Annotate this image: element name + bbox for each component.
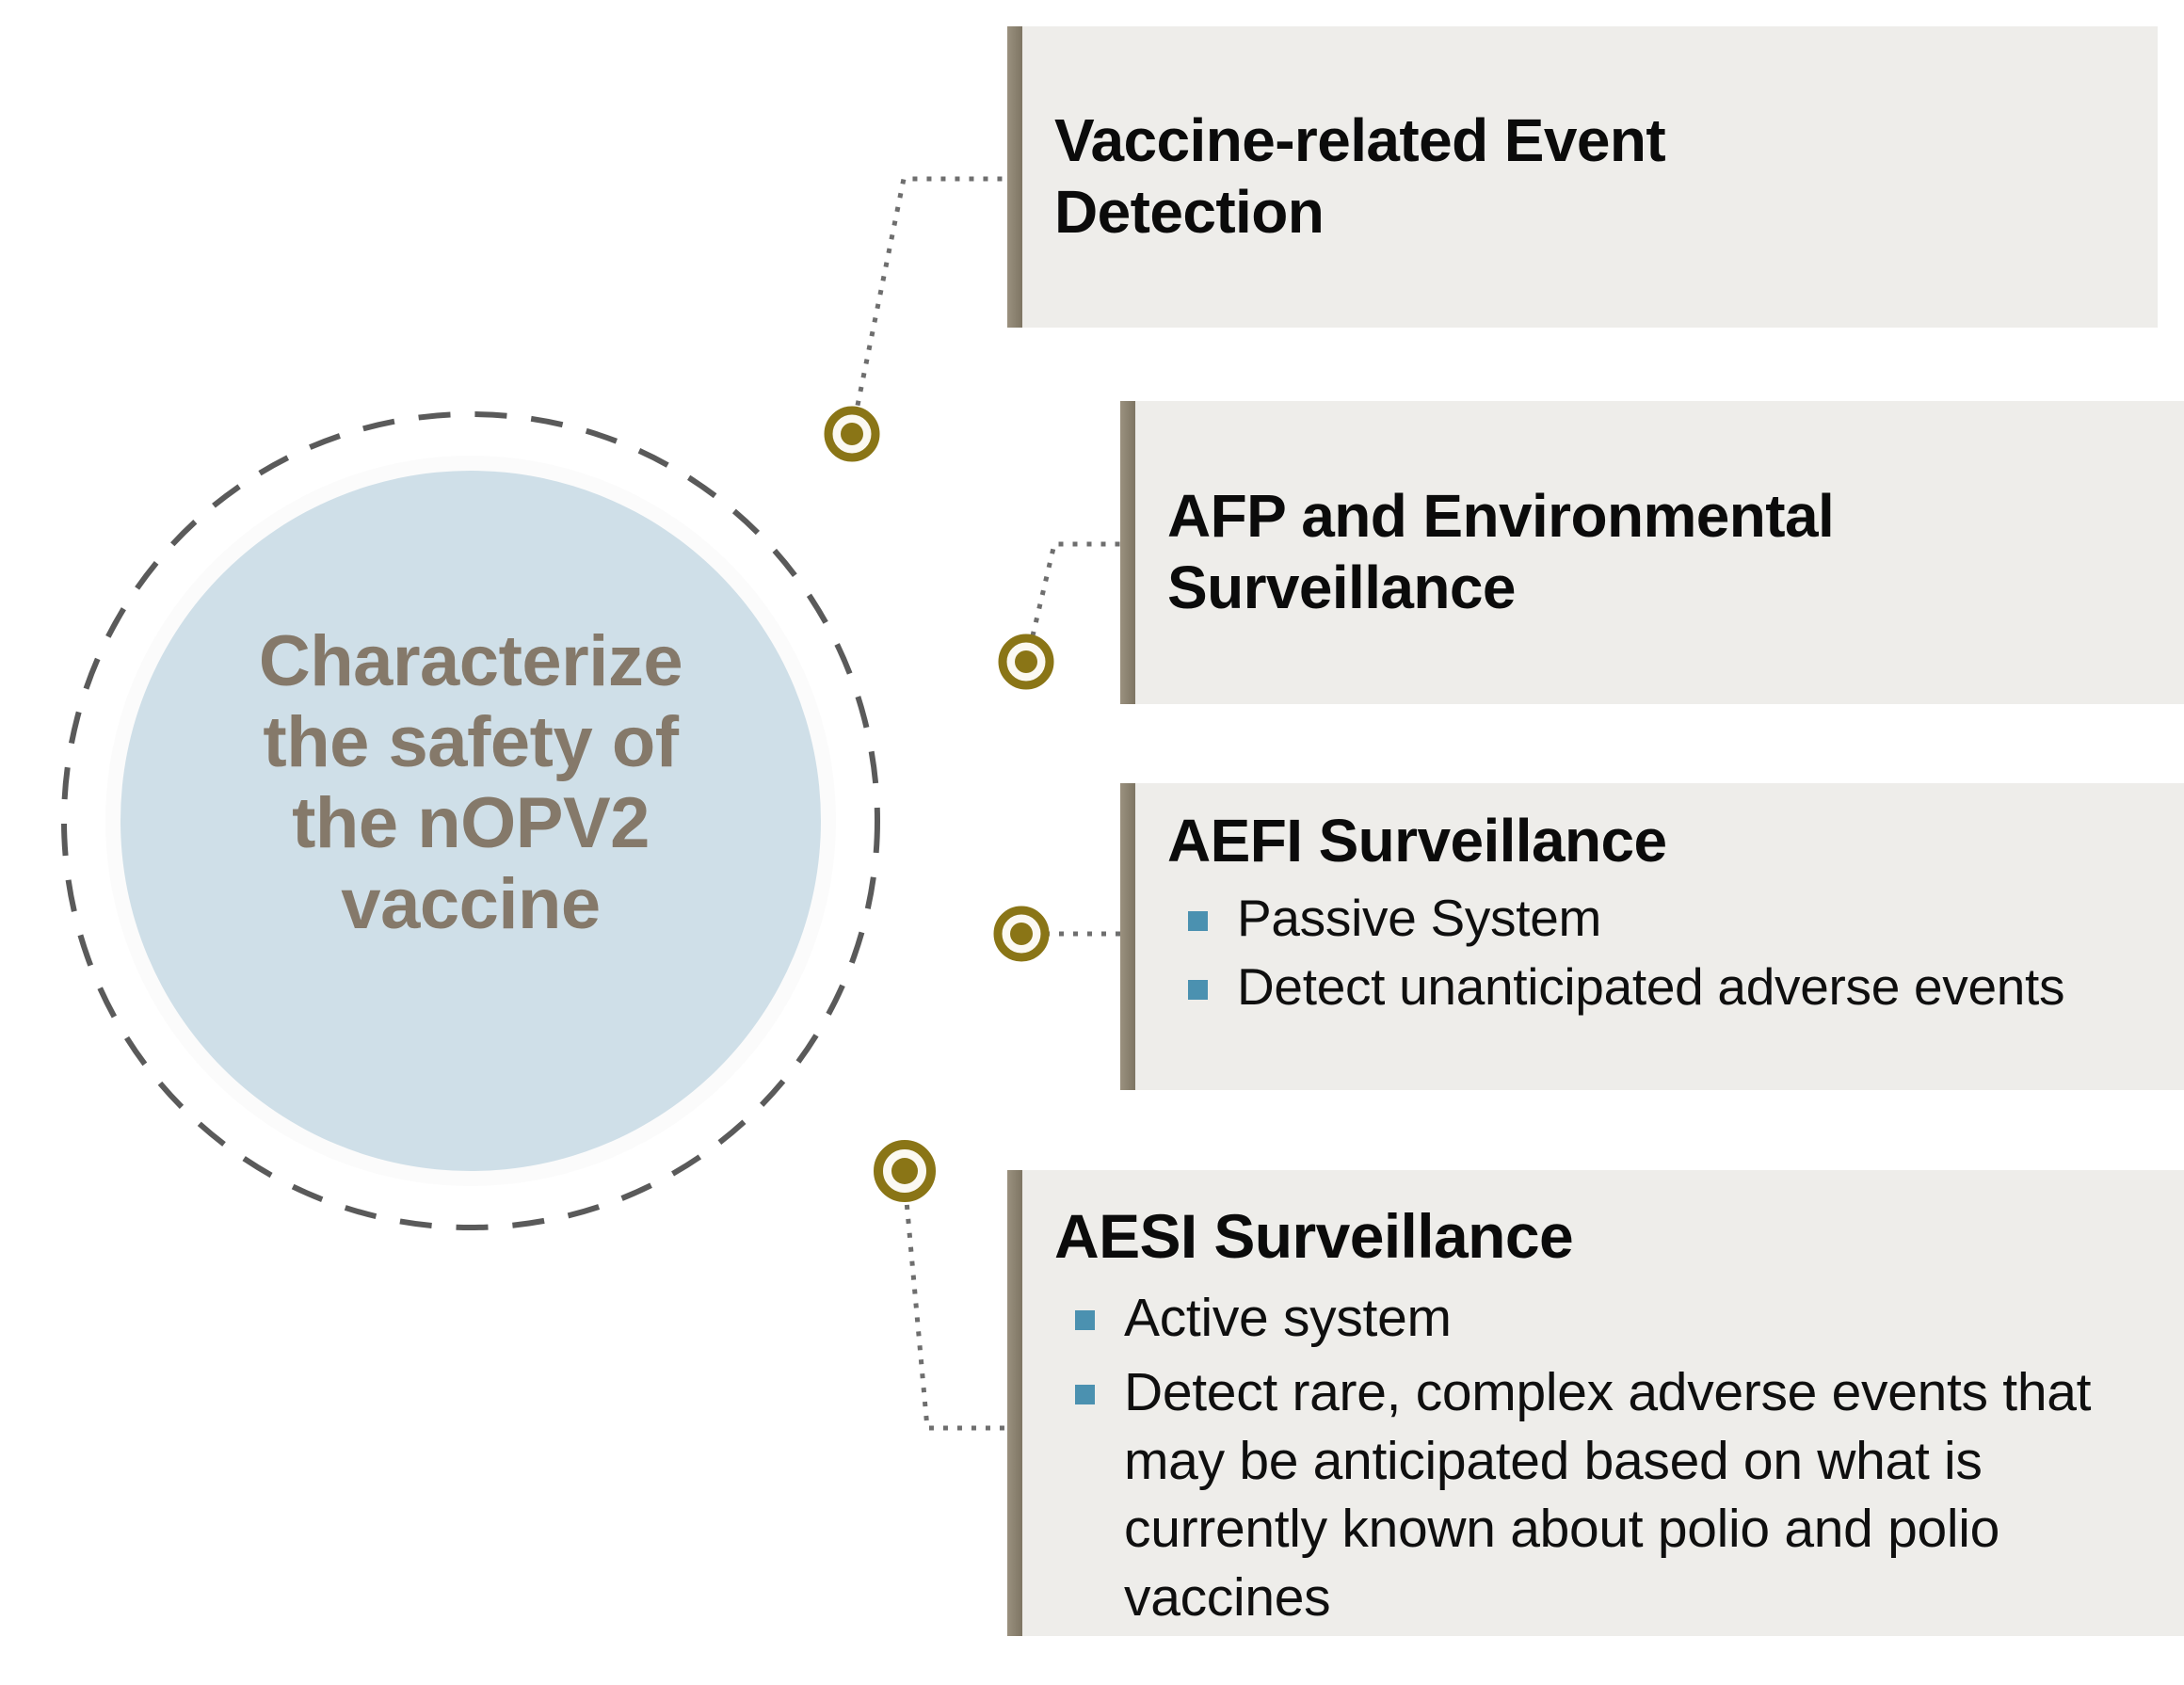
hub-label-line-3: the nOPV2 (113, 783, 828, 864)
node-title: AFP and Environmental Surveillance (1167, 481, 2152, 623)
leader-line-2 (1026, 544, 1122, 664)
bullet-square-icon (1075, 1310, 1095, 1330)
hub-label-line-1: Characterize (113, 621, 828, 702)
hub-label-line-4: vaccine (113, 864, 828, 945)
node-title-line-1: Vaccine-related Event (1054, 105, 2126, 177)
bullet-square-icon (1188, 911, 1208, 931)
node-aesi-surveillance[interactable]: AESI Surveillance Active system Detect r… (1007, 1170, 2184, 1636)
connector-dot-3 (998, 910, 1045, 957)
list-item: Passive System (1167, 887, 2152, 950)
node-title-line-2: Detection (1054, 177, 2126, 249)
connector-dot-2 (1003, 638, 1050, 685)
list-item-label: Passive System (1237, 889, 1601, 947)
node-accent-bar (1120, 401, 1135, 704)
node-bullet-list: Passive System Detect unanticipated adve… (1167, 887, 2152, 1024)
list-item-label: Detect unanticipated adverse events (1237, 957, 2064, 1016)
connector-dot-1 (828, 410, 875, 457)
hub-label: Characterize the safety of the nOPV2 vac… (113, 621, 828, 945)
list-item-label: Detect rare, complex adverse events that… (1124, 1362, 2091, 1629)
hub-label-line-2: the safety of (113, 702, 828, 783)
list-item-label: Active system (1124, 1288, 1452, 1348)
leader-line-1 (852, 179, 1009, 433)
connector-dots (828, 410, 1050, 1197)
bullet-square-icon (1075, 1385, 1095, 1404)
connector-dot-4 (878, 1145, 931, 1197)
node-bullet-list: Active system Detect rare, complex adver… (1054, 1284, 2152, 1639)
node-title-line-1: AFP and Environmental (1167, 481, 2152, 553)
node-title: AESI Surveillance (1054, 1202, 2152, 1271)
diagram-canvas: Characterize the safety of the nOPV2 vac… (0, 0, 2184, 1685)
node-accent-bar (1120, 783, 1135, 1090)
node-afp-and-environmental-surveillance[interactable]: AFP and Environmental Surveillance (1120, 401, 2184, 704)
node-accent-bar (1007, 1170, 1022, 1636)
node-title: Vaccine-related Event Detection (1054, 105, 2126, 248)
leader-line-4 (906, 1191, 1009, 1428)
node-vaccine-related-event-detection[interactable]: Vaccine-related Event Detection (1007, 26, 2158, 328)
bullet-square-icon (1188, 980, 1208, 1000)
node-title-line-2: Surveillance (1167, 553, 2152, 624)
node-title: AEFI Surveillance (1167, 808, 2152, 874)
list-item: Detect unanticipated adverse events (1167, 955, 2152, 1019)
node-accent-bar (1007, 26, 1022, 328)
list-item: Detect rare, complex adverse events that… (1054, 1358, 2152, 1633)
list-item: Active system (1054, 1284, 2152, 1353)
node-aefi-surveillance[interactable]: AEFI Surveillance Passive System Detect … (1120, 783, 2184, 1090)
